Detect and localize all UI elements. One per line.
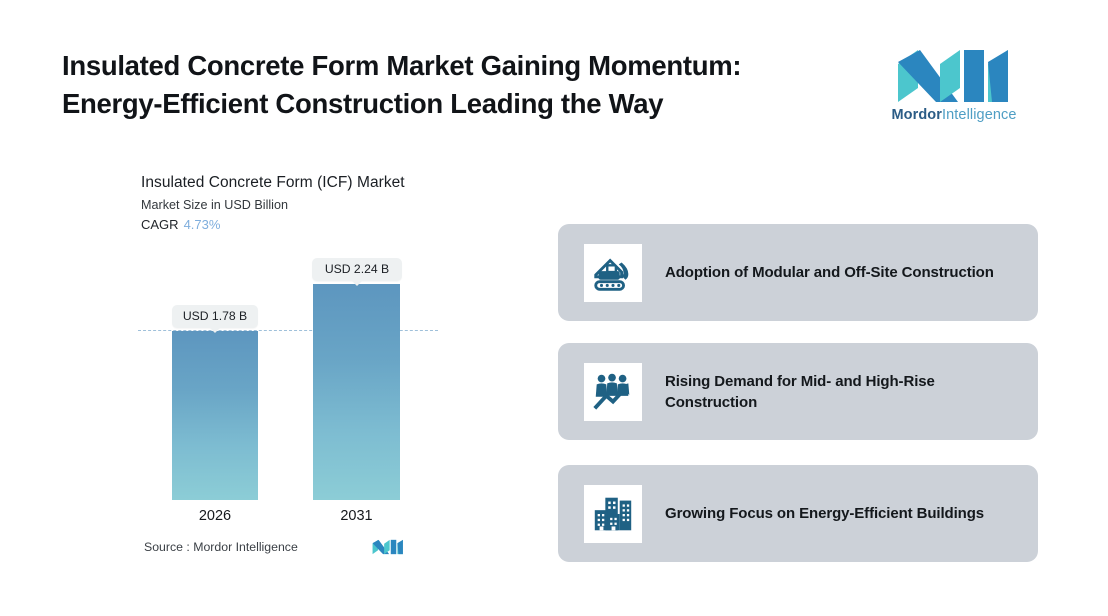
chart-source: Source : Mordor Intelligence xyxy=(144,540,298,554)
driver-card-text: Growing Focus on Energy-Efficient Buildi… xyxy=(665,503,1002,524)
market-size-chart: Insulated Concrete Form (ICF) Market Mar… xyxy=(0,0,540,616)
x-axis-label-2026: 2026 xyxy=(172,508,258,524)
chart-plot-area: USD 1.78 B USD 2.24 B 2026 2031 xyxy=(0,0,540,616)
driver-card-energy-efficient-buildings[interactable]: Growing Focus on Energy-Efficient Buildi… xyxy=(558,465,1038,562)
excavator-icon-frame xyxy=(584,244,642,302)
drivers-card-list: Adoption of Modular and Off-Site Constru… xyxy=(558,0,1038,616)
people-growth-arrow-icon-frame xyxy=(584,363,642,421)
infographic-page: Insulated Concrete Form Market Gaining M… xyxy=(0,0,1108,616)
value-label-2026: USD 1.78 B xyxy=(172,305,258,328)
buildings-icon xyxy=(590,491,636,537)
driver-card-text: Adoption of Modular and Off-Site Constru… xyxy=(665,262,1012,283)
x-axis-label-2031: 2031 xyxy=(313,508,400,524)
driver-card-high-rise-demand[interactable]: Rising Demand for Mid- and High-Rise Con… xyxy=(558,343,1038,440)
bar-2026 xyxy=(172,331,258,500)
buildings-icon-frame xyxy=(584,485,642,543)
driver-card-text: Rising Demand for Mid- and High-Rise Con… xyxy=(665,371,1038,413)
people-growth-arrow-icon xyxy=(590,369,636,415)
bar-2031 xyxy=(313,284,400,500)
source-logo-mark-icon xyxy=(372,536,404,558)
value-label-2031: USD 2.24 B xyxy=(312,258,402,281)
driver-card-modular-construction[interactable]: Adoption of Modular and Off-Site Constru… xyxy=(558,224,1038,321)
excavator-icon xyxy=(590,250,636,296)
